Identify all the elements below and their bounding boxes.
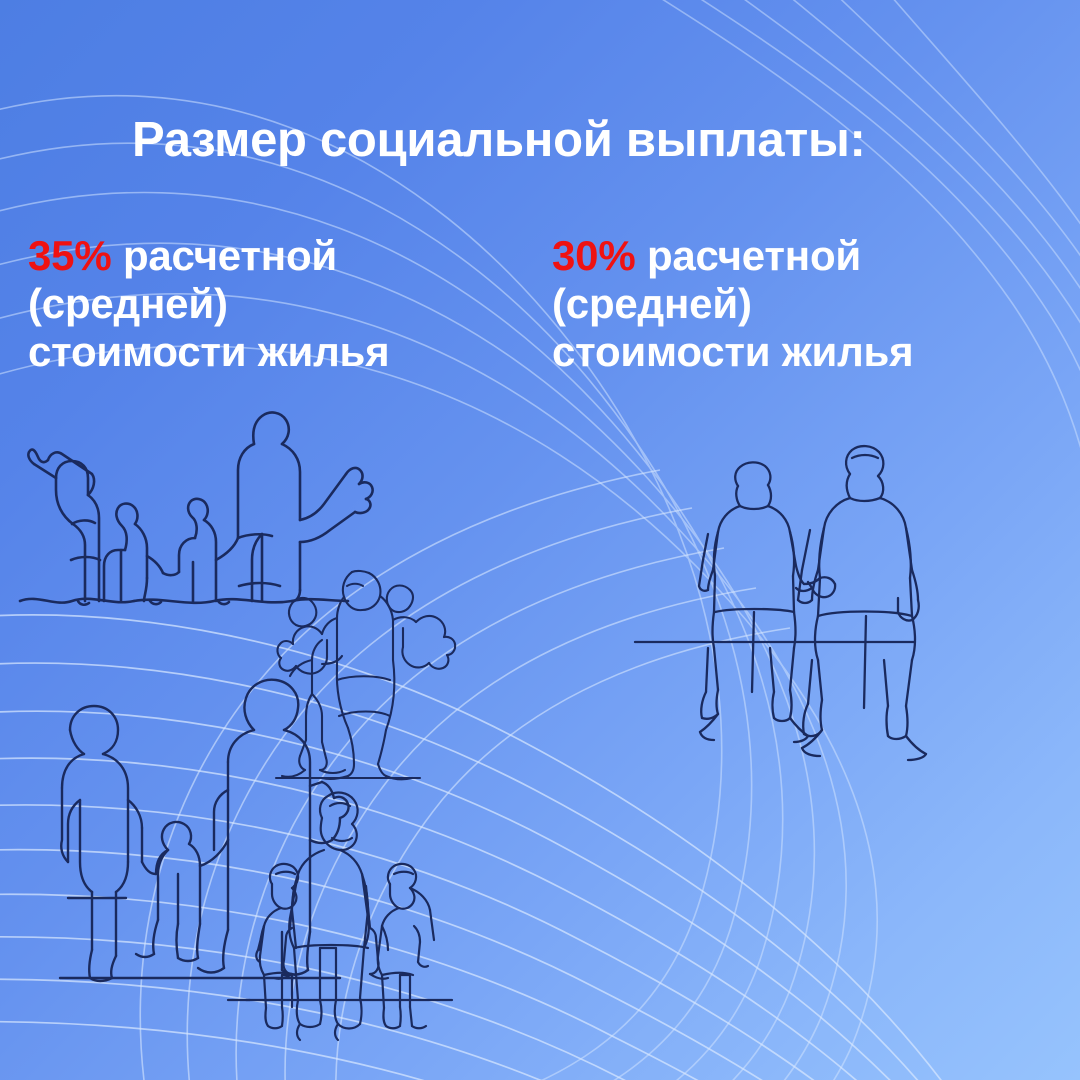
payout-line-1: 30% расчетной bbox=[552, 232, 914, 280]
text-layer: Размер социальной выплаты: 35% расчетной… bbox=[0, 0, 1080, 1080]
payout-percent-30: 30% bbox=[552, 232, 635, 279]
payout-line1-rest-30: расчетной bbox=[635, 232, 861, 279]
payout-line1-rest-35: расчетной bbox=[111, 232, 337, 279]
payout-block-30: 30% расчетной (средней) стоимости жилья bbox=[552, 232, 914, 376]
payout-line-1: 35% расчетной bbox=[28, 232, 390, 280]
payout-line-2-35: (средней) bbox=[28, 280, 390, 328]
payout-line-2-30: (средней) bbox=[552, 280, 914, 328]
infographic-poster: Размер социальной выплаты: 35% расчетной… bbox=[0, 0, 1080, 1080]
payout-line-3-30: стоимости жилья bbox=[552, 328, 914, 376]
page-title: Размер социальной выплаты: bbox=[132, 112, 866, 168]
payout-percent-35: 35% bbox=[28, 232, 111, 279]
payout-line-3-35: стоимости жилья bbox=[28, 328, 390, 376]
payout-block-35: 35% расчетной (средней) стоимости жилья bbox=[28, 232, 390, 376]
